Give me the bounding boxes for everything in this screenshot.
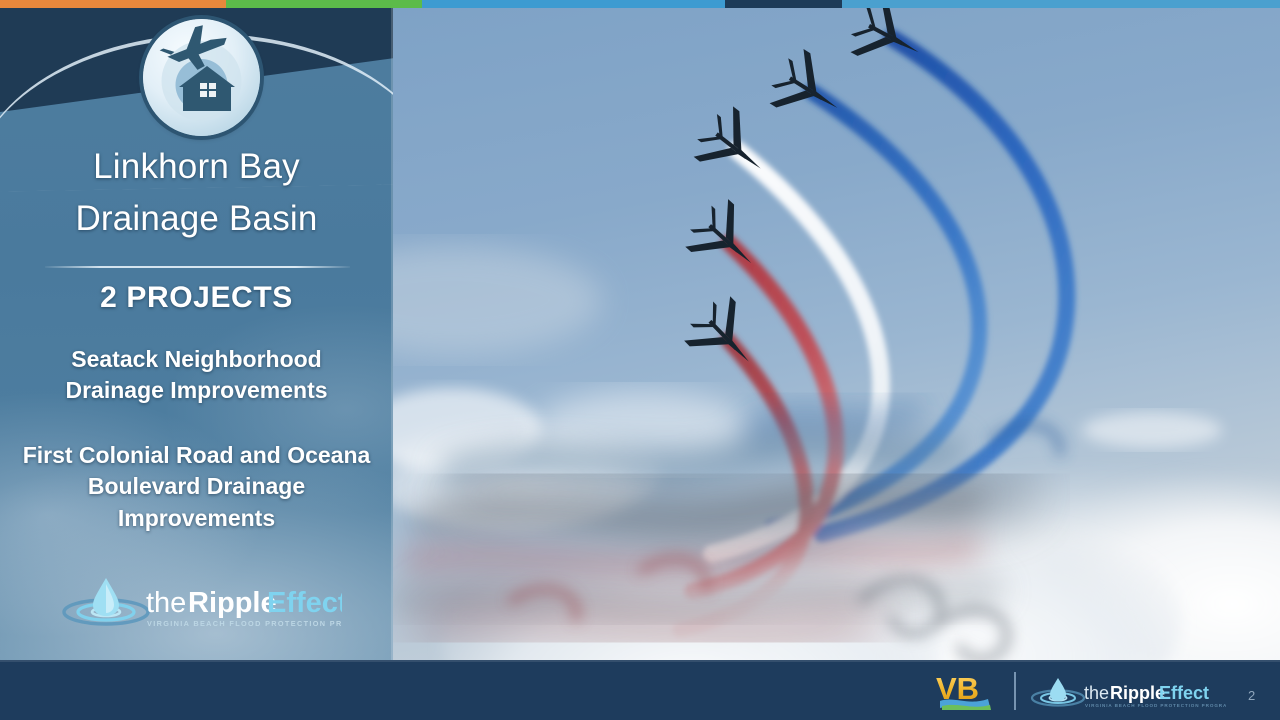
virginia-beach-vb-logo: VB	[934, 670, 1006, 712]
footer-divider	[1014, 672, 1016, 710]
logo-tagline-footer: VIRGINIA BEACH FLOOD PROTECTION PROGRAM	[1085, 703, 1226, 708]
projects-heading: 2 PROJECTS	[0, 281, 393, 315]
ripple-effect-logo-footer: the Ripple Effect VIRGINIA BEACH FLOOD P…	[1030, 674, 1226, 710]
page-title: Linkhorn Bay Drainage Basin	[0, 141, 393, 245]
top-stripe-navy	[725, 0, 842, 8]
page-number: 2	[1248, 688, 1255, 703]
top-stripe-green	[226, 0, 422, 8]
airshow-illustration	[392, 0, 1280, 660]
logo-word-the: the	[146, 587, 186, 619]
title-line-1: Linkhorn Bay	[0, 141, 393, 193]
project-item-2: First Colonial Road and Oceana Boulevard…	[22, 440, 371, 534]
logo-word-ripple-footer: Ripple	[1110, 683, 1165, 703]
top-stripe-blue	[422, 0, 725, 8]
ripple-effect-logo: the Ripple Effect VIRGINIA BEACH FLOOD P…	[62, 570, 342, 632]
top-color-stripe	[0, 0, 1280, 8]
logo-word-effect-footer: Effect	[1159, 683, 1209, 703]
presentation-slide: Linkhorn Bay Drainage Basin 2 PROJECTS S…	[0, 0, 1280, 720]
blue-angels-airshow-photo	[392, 0, 1280, 660]
title-divider	[45, 266, 350, 268]
top-stripe-orange	[0, 0, 226, 8]
sidebar-panel: Linkhorn Bay Drainage Basin 2 PROJECTS S…	[0, 0, 393, 660]
top-stripe-blue-2	[842, 0, 1280, 8]
logo-tagline: VIRGINIA BEACH FLOOD PROTECTION PROGRAM	[147, 619, 342, 628]
logo-word-ripple: Ripple	[188, 587, 277, 619]
water-droplet-ripple-icon	[64, 578, 148, 624]
footer-top-highlight	[0, 660, 1280, 662]
water-droplet-ripple-icon-footer	[1032, 678, 1084, 706]
project-item-1: Seatack Neighborhood Drainage Improvemen…	[22, 344, 371, 407]
logo-word-the-footer: the	[1084, 683, 1109, 703]
logo-word-effect: Effect	[267, 587, 342, 619]
title-line-2: Drainage Basin	[0, 193, 393, 245]
